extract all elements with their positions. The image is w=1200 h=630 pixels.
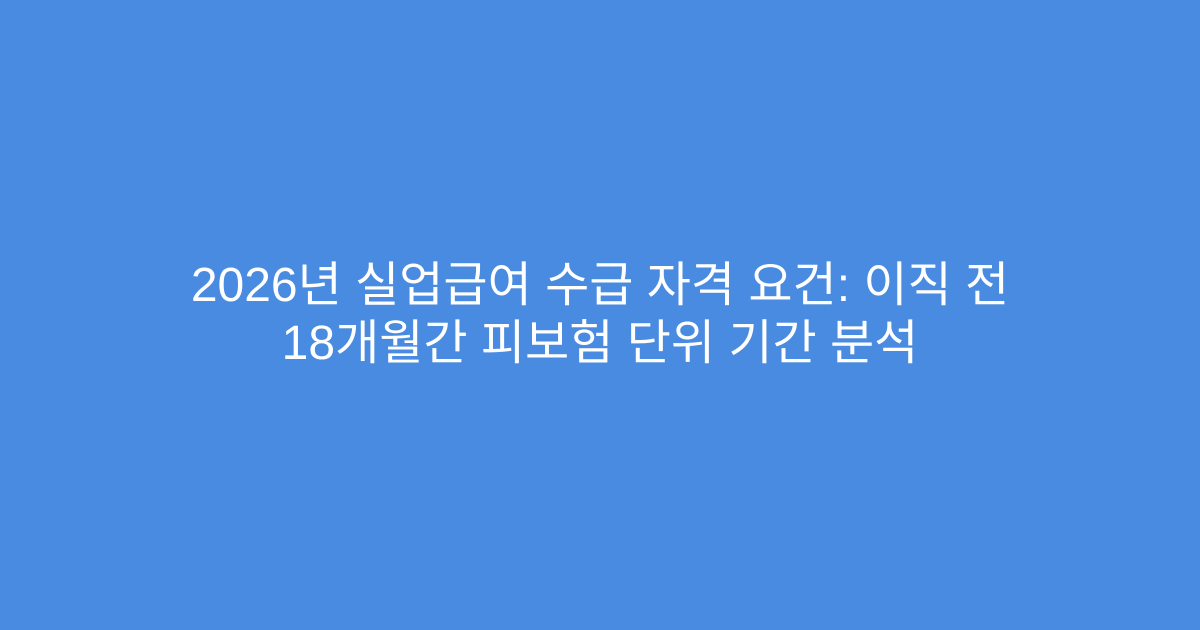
title-block: 2026년 실업급여 수급 자격 요건: 이직 전 18개월간 피보험 단위 기… bbox=[155, 257, 1045, 373]
page-title: 2026년 실업급여 수급 자격 요건: 이직 전 18개월간 피보험 단위 기… bbox=[165, 257, 1035, 373]
social-card-canvas: 2026년 실업급여 수급 자격 요건: 이직 전 18개월간 피보험 단위 기… bbox=[0, 0, 1200, 630]
